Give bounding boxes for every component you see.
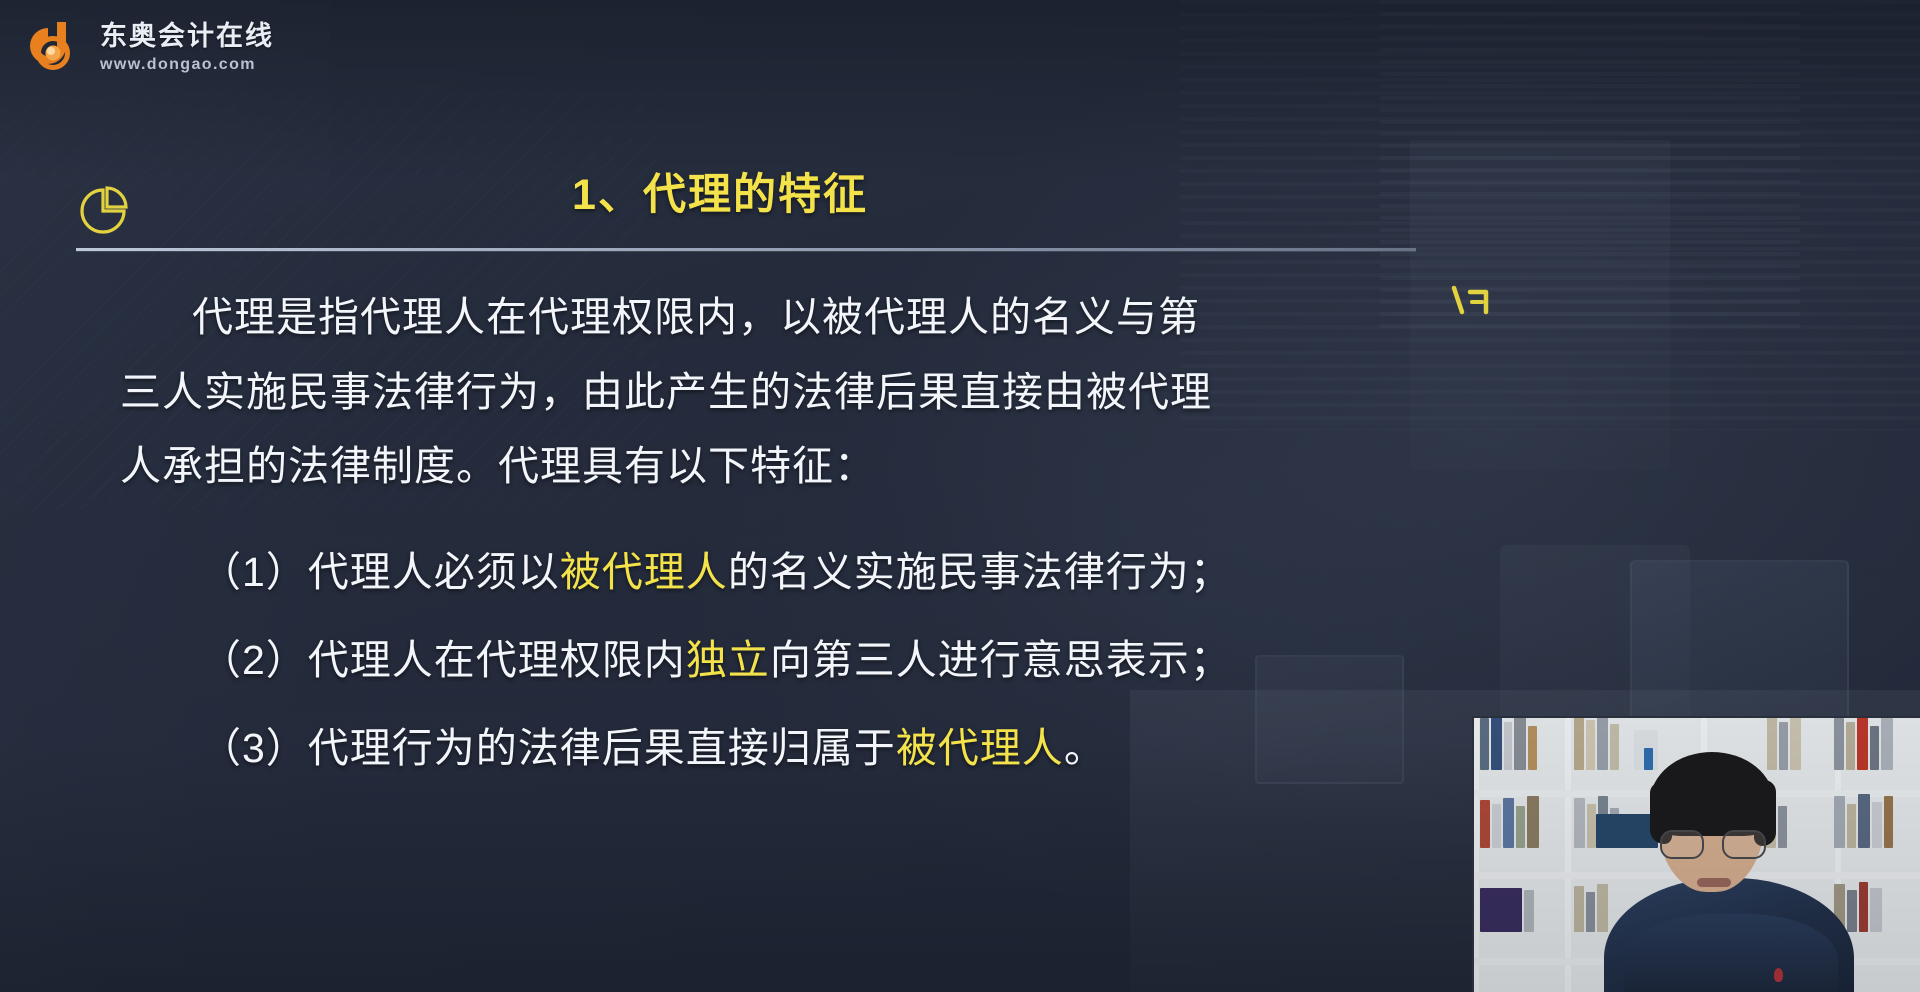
list-item: （3）代理行为的法律后果直接归属于被代理人。 (200, 728, 1480, 769)
list-item: （1）代理人必须以被代理人的名义实施民事法律行为； (200, 552, 1480, 593)
glasses-lens-right (1722, 830, 1766, 859)
bullet-1-prefix: （1）代理人必须以 (200, 549, 560, 595)
book (1491, 716, 1502, 770)
book (1884, 796, 1893, 848)
book (1610, 724, 1619, 770)
book (1480, 888, 1522, 932)
book (1504, 722, 1512, 770)
paragraph-line-3: 人承担的法律制度。代理具有以下特征： (120, 443, 876, 489)
book (1858, 794, 1870, 848)
bullet-1-highlight: 被代理人 (560, 549, 728, 595)
book (1859, 882, 1868, 932)
instructor-hoodie-collar (1624, 914, 1838, 992)
book (1586, 892, 1595, 932)
bullet-1-suffix: 的名义实施民事法律行为； (728, 549, 1232, 595)
book (1790, 716, 1801, 770)
book (1527, 796, 1539, 848)
book (1872, 802, 1882, 848)
presentation-slide: 东奥会计在线 www.dongao.com 1、代理的特征 代理是指代理人在代理… (0, 0, 1920, 992)
book (1528, 726, 1537, 770)
dongao-circular-d-logo-icon (22, 16, 86, 80)
glasses-lens-left (1660, 830, 1704, 859)
book (1644, 748, 1653, 770)
book (1847, 890, 1857, 932)
book (1596, 814, 1658, 848)
bullet-3-suffix: 。 (1064, 725, 1106, 771)
slide-title-row: 1、代理的特征 (0, 160, 1440, 222)
book (1597, 716, 1608, 770)
pen-cursor-icon (1448, 282, 1492, 322)
book (1586, 720, 1595, 770)
bullet-3-highlight: 被代理人 (896, 725, 1064, 771)
bullet-2-highlight: 独立 (686, 637, 770, 683)
paragraph-line-1: 代理是指代理人在代理权限内，以被代理人的名义与第 (192, 294, 1200, 340)
book (1514, 716, 1526, 770)
book (1503, 798, 1514, 848)
brand-name: 东奥会计在线 (100, 23, 274, 50)
brand-logo: 东奥会计在线 www.dongao.com (22, 16, 274, 80)
book (1480, 718, 1489, 770)
book (1767, 716, 1777, 770)
instructor-glasses (1660, 830, 1764, 856)
book (1881, 716, 1893, 770)
paragraph-line-2: 三人实施民事法律行为，由此产生的法律后果直接由被代理 (120, 369, 1212, 415)
title-divider (76, 248, 1416, 251)
book (1847, 804, 1856, 848)
book (1778, 806, 1787, 848)
book (1480, 800, 1490, 848)
book (1574, 798, 1585, 848)
page-title: 1、代理的特征 (572, 160, 868, 222)
book (1870, 726, 1879, 770)
book (1516, 806, 1525, 848)
book (1587, 804, 1596, 848)
bullet-3-prefix: （3）代理行为的法律后果直接归属于 (200, 725, 896, 771)
book (1574, 716, 1584, 770)
list-item: （2）代理人在代理权限内独立向第三人进行意思表示； (200, 640, 1480, 681)
instructor-mouth (1697, 878, 1731, 887)
instructor-video-overlay[interactable] (1472, 716, 1920, 992)
book (1574, 886, 1584, 932)
book (1846, 722, 1855, 770)
feature-list: （1）代理人必须以被代理人的名义实施民事法律行为； （2）代理人在代理权限内独立… (200, 552, 1480, 816)
book (1834, 716, 1844, 770)
hoodie-logo (1774, 968, 1783, 982)
book (1834, 796, 1845, 848)
book (1779, 722, 1788, 770)
book (1597, 884, 1608, 932)
bullet-2-prefix: （2）代理人在代理权限内 (200, 637, 686, 683)
book (1524, 890, 1534, 932)
bullet-2-suffix: 向第三人进行意思表示； (770, 637, 1232, 683)
book (1870, 888, 1882, 932)
brand-url: www.dongao.com (100, 57, 274, 73)
definition-paragraph: 代理是指代理人在代理权限内，以被代理人的名义与第 三人实施民事法律行为，由此产生… (120, 280, 1440, 504)
book (1492, 804, 1501, 848)
book (1857, 716, 1868, 770)
